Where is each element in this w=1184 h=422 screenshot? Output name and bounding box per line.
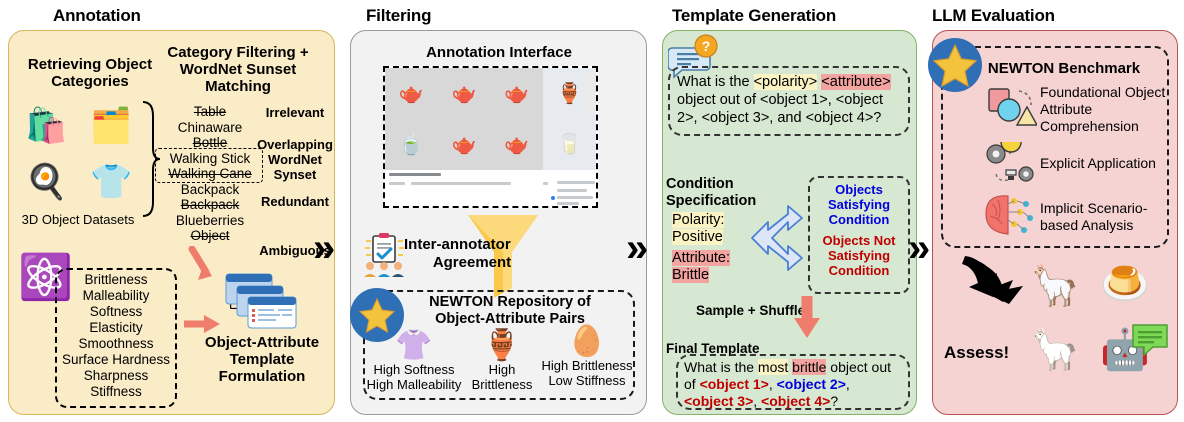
final-object-2: <object 2>: [777, 376, 846, 392]
final-object-4: <object 4>: [761, 393, 830, 409]
flow-chevron-2-icon: »: [626, 228, 642, 268]
formulation-heading: Object-Attribute Template Formulation: [188, 334, 336, 385]
clay-vase-icon: 🏺: [466, 330, 538, 362]
formulation-line3: Formulation: [219, 368, 306, 385]
task-line1: Foundational Object: [1040, 84, 1165, 100]
formulation-line2: Template: [230, 351, 295, 368]
repo-item-line2: Low Stiffness: [548, 373, 625, 388]
attribute-list: Brittleness Malleability Softness Elasti…: [55, 272, 177, 400]
category-heading-line1: Category Filtering +: [167, 44, 308, 61]
attribute-item: Brittleness: [55, 272, 177, 288]
attribute-value: Brittle: [672, 267, 709, 283]
attribute-field: Attribute: Brittle: [672, 250, 756, 284]
not-satisfying-line2: Satisfying: [828, 248, 890, 263]
thumbnail-teapot-blue-white[interactable]: 🫖: [385, 68, 438, 119]
repo-item-line1: High Brittleness: [541, 358, 632, 373]
reason-irrelevant: Irrelevant: [250, 105, 340, 120]
groceries-icon: 🛍️: [14, 98, 79, 154]
repo-item-vase: 🏺 High Brittleness: [466, 330, 538, 392]
final-polarity: most: [758, 359, 788, 375]
datasets-caption: 3D Object Datasets: [8, 212, 148, 227]
formulation-line1: Object-Attribute: [205, 334, 319, 351]
flow-chevron-3-icon: »: [908, 228, 924, 268]
polarity-value: Positive: [672, 229, 723, 245]
gears-bulb-icon: [982, 142, 1038, 188]
svg-text:?: ?: [702, 38, 711, 54]
repo-item-line2: Brittleness: [472, 377, 533, 392]
repo-item-line1: High: [489, 362, 516, 377]
repo-item-label: High Softness High Malleability: [366, 362, 462, 392]
category-heading-line2: WordNet Sunset: [180, 61, 296, 78]
repo-item-clothes: 👚 High Softness High Malleability: [366, 330, 462, 392]
egg-basket-icon: 🥚: [538, 326, 636, 358]
reason-line3: Synset: [274, 167, 317, 182]
repo-item-eggs: 🥚 High Brittleness Low Stiffness: [538, 326, 636, 388]
final-attribute: brittle: [792, 359, 826, 375]
task-line3: Comprehension: [1040, 118, 1139, 134]
panel-title-llm-evaluation: LLM Evaluation: [932, 6, 1055, 26]
panel-title-annotation: Annotation: [53, 6, 141, 26]
inter-annotator-label: Inter-annotator Agreement: [404, 236, 564, 272]
condition-results-box: Objects Satisfying Condition Objects Not…: [808, 176, 910, 294]
attribute-item: Surface Hardness: [55, 352, 177, 368]
thumbnail-creamer-blue-white[interactable]: 🥛: [543, 119, 596, 170]
reason-redundant: Redundant: [250, 194, 340, 209]
polarity-label: Polarity:: [672, 212, 724, 228]
retrieving-heading-line1: Retrieving Object: [28, 56, 152, 73]
stationery-icon: 🗂️: [79, 98, 144, 154]
attribute-item: Sharpness: [55, 368, 177, 384]
inter-annotator-line1: Inter-annotator: [404, 236, 511, 253]
dataset-icon-grid: 🛍️ 🗂️ 🍳 👕: [14, 98, 144, 210]
flan-custard-icon: 🍮: [1100, 264, 1150, 304]
polarity-field: Polarity: Positive: [672, 212, 756, 246]
template-attribute-placeholder: <attribute>: [821, 74, 890, 90]
benchmark-title: NEWTON Benchmark: [966, 60, 1162, 77]
clothing-icon: 👕: [79, 154, 144, 210]
red-arrow-down-icon: [186, 246, 220, 284]
attribute-item: Smoothness: [55, 336, 177, 352]
objects-not-satisfying-label: Objects Not Satisfying Condition: [810, 233, 908, 278]
shuffle-arrow-down-icon: [790, 294, 826, 342]
final-object-3: <object 3>: [684, 393, 753, 409]
sample-shuffle-label: Sample + Shuffle: [696, 303, 805, 318]
repository-title: NEWTON Repository of Object-Attribute Pa…: [385, 294, 635, 328]
panel-title-filtering: Filtering: [366, 6, 431, 26]
attribute-item: Stiffness: [55, 384, 177, 400]
split-arrows-icon: [746, 200, 806, 278]
final-object-1: <object 1>: [700, 376, 769, 392]
condition-heading-line1: Condition: [666, 176, 734, 192]
final-pre: What is the: [684, 359, 758, 375]
template-text-post: object out of <object 1>, <object 2>, <o…: [677, 92, 883, 126]
red-arrow-right-icon: [182, 312, 222, 336]
question-template-box: What is the <polarity> <attribute> objec…: [668, 66, 910, 136]
repo-item-label: High Brittleness: [466, 362, 538, 392]
llama-brown-icon: 🦙: [1030, 266, 1080, 306]
category-item: Chinaware: [150, 120, 270, 136]
thumbnail-grid[interactable]: 🫖 🫖 🫖 🏺 🍵 🫖 🫖 🥛: [385, 68, 596, 170]
retrieving-heading: Retrieving Object Categories: [16, 56, 164, 90]
annotation-interface-mock[interactable]: 🫖 🫖 🫖 🏺 🍵 🫖 🫖 🥛: [383, 66, 598, 208]
thumbnail-teapot-navy-tall[interactable]: 🫖: [491, 68, 544, 119]
reason-line1: Overlapping: [257, 137, 333, 152]
category-heading-line3: Matching: [205, 78, 271, 95]
reason-line2: WordNet: [268, 152, 322, 167]
reason-overlapping-synset: Overlapping WordNet Synset: [250, 137, 340, 182]
task-implicit: Implicit Scenario- based Analysis: [1040, 200, 1170, 234]
thumbnail-teapot-white-silver[interactable]: 🫖: [491, 119, 544, 170]
task-explicit: Explicit Application: [1040, 155, 1170, 172]
shapes-icon: [985, 85, 1037, 133]
attribute-item: Malleability: [55, 288, 177, 304]
thumbnail-teapot-tan-floral[interactable]: 🫖: [438, 68, 491, 119]
attribute-label: Attribute:: [672, 250, 730, 266]
clothes-hanger-icon: 👚: [366, 330, 462, 362]
repository-title-line1: NEWTON Repository of: [429, 294, 591, 310]
satisfying-line3: Condition: [829, 212, 890, 227]
clipboard-checklist-people-icon: [360, 232, 408, 278]
repo-item-line1: High Softness: [374, 362, 455, 377]
alpaca-white-icon: 🦙: [1030, 330, 1080, 370]
repository-title-line2: Object-Attribute Pairs: [435, 311, 585, 327]
panel-title-template-generation: Template Generation: [672, 6, 836, 26]
thumbnail-teapot-dark-blue[interactable]: 🫖: [438, 119, 491, 170]
figure-canvas: Annotation Filtering Template Generation…: [0, 0, 1184, 422]
flow-chevron-1-icon: »: [313, 228, 329, 268]
repo-item-label: High Brittleness Low Stiffness: [538, 358, 636, 388]
template-windows-icon: [224, 272, 300, 330]
objects-satisfying-label: Objects Satisfying Condition: [810, 182, 908, 227]
task-line2: Attribute: [1040, 101, 1092, 117]
template-polarity-placeholder: <polarity>: [754, 74, 818, 90]
viewer-toolbar[interactable]: [585, 72, 594, 112]
task-foundational: Foundational Object Attribute Comprehens…: [1040, 84, 1168, 135]
inter-annotator-line2: Agreement: [404, 254, 564, 272]
satisfying-line1: Objects: [835, 182, 883, 197]
category-item: Object: [150, 228, 270, 244]
annotation-interface-title: Annotation Interface: [360, 44, 638, 61]
kitchenware-icon: 🍳: [14, 154, 79, 210]
attribute-item: Elasticity: [55, 320, 177, 336]
final-end: ?: [830, 393, 838, 409]
final-template-box: What is the most brittle object out of <…: [676, 354, 910, 410]
chat-bubble-icon: [1130, 322, 1170, 356]
thumbnail-mug-yellow-floral[interactable]: 🍵: [385, 119, 438, 170]
task-line1: Implicit Scenario-: [1040, 200, 1147, 216]
not-satisfying-line3: Condition: [829, 263, 890, 278]
assess-label: Assess!: [944, 343, 1009, 363]
category-heading: Category Filtering + WordNet Sunset Matc…: [148, 44, 328, 95]
not-satisfying-line1: Objects Not: [823, 233, 896, 248]
attribute-item: Softness: [55, 304, 177, 320]
annotation-form[interactable]: [385, 170, 596, 206]
repo-item-line2: High Malleability: [367, 377, 462, 392]
category-item: Blueberries: [150, 213, 270, 229]
satisfying-line2: Satisfying: [828, 197, 890, 212]
task-line2: based Analysis: [1040, 217, 1133, 233]
brain-circuit-icon: [980, 192, 1038, 238]
retrieving-heading-line2: Categories: [51, 73, 129, 90]
template-text-pre: What is the: [677, 74, 754, 90]
condition-heading-line2: Specification: [666, 193, 756, 209]
